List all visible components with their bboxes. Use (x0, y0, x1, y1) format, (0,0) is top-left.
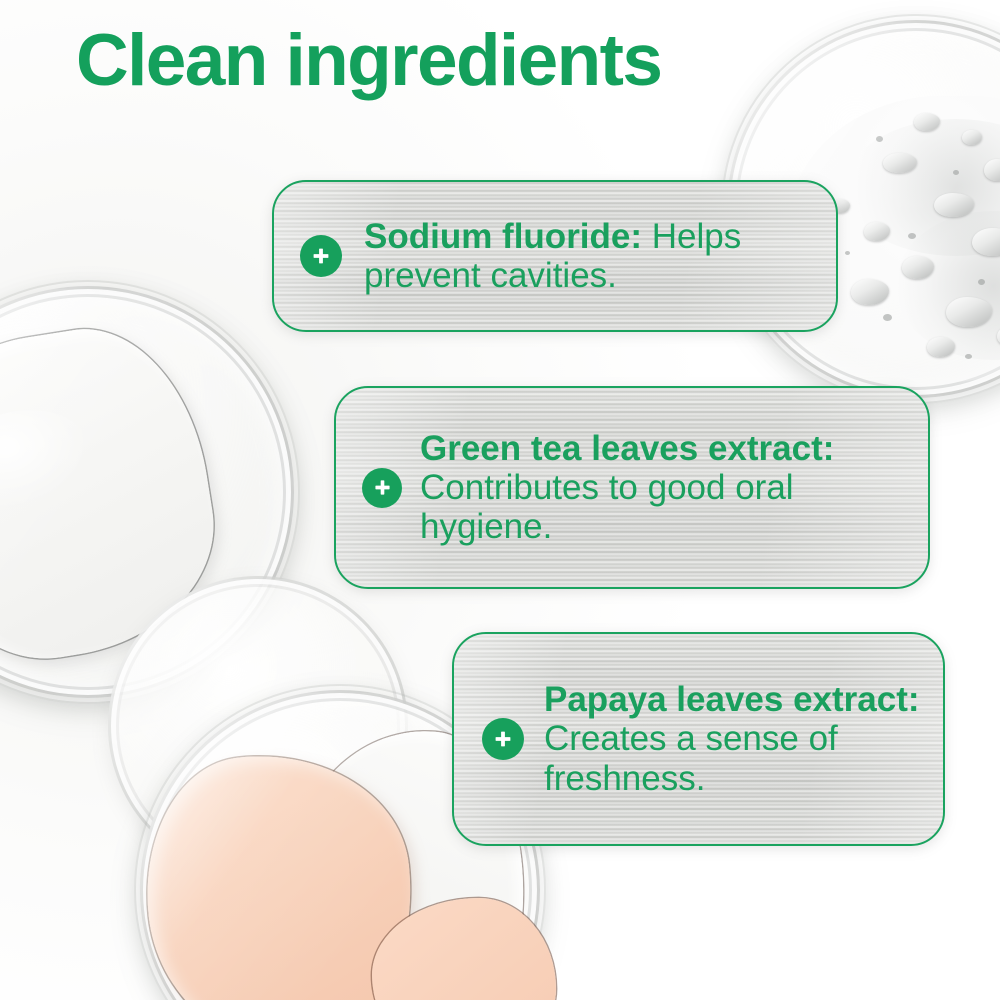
ingredient-card-text: Green tea leaves extract: Contributes to… (420, 429, 910, 547)
ingredient-card-green-tea-leaves-extract: Green tea leaves extract: Contributes to… (334, 386, 930, 589)
ingredient-description: Creates a sense of freshness. (544, 719, 838, 797)
plus-icon (482, 718, 524, 760)
page-title: Clean ingredients (76, 24, 661, 97)
content-overlay: Clean ingredients Sodium fluoride: Helps… (0, 0, 1000, 1000)
ingredient-name: Papaya leaves extract: (544, 680, 920, 719)
ingredient-card-papaya-leaves-extract: Papaya leaves extract: Creates a sense o… (452, 632, 945, 846)
ingredient-card-text: Sodium fluoride: Helps prevent cavities. (364, 217, 814, 295)
ingredient-name: Green tea leaves extract: (420, 429, 834, 468)
ingredient-card-sodium-fluoride: Sodium fluoride: Helps prevent cavities. (272, 180, 838, 332)
plus-icon (362, 468, 402, 508)
plus-icon (300, 235, 342, 277)
ingredient-card-text: Papaya leaves extract: Creates a sense o… (544, 680, 927, 798)
product-infographic: Clean ingredients Sodium fluoride: Helps… (0, 0, 1000, 1000)
ingredient-description: Contributes to good oral hygiene. (420, 468, 794, 546)
ingredient-name: Sodium fluoride: (364, 217, 642, 256)
